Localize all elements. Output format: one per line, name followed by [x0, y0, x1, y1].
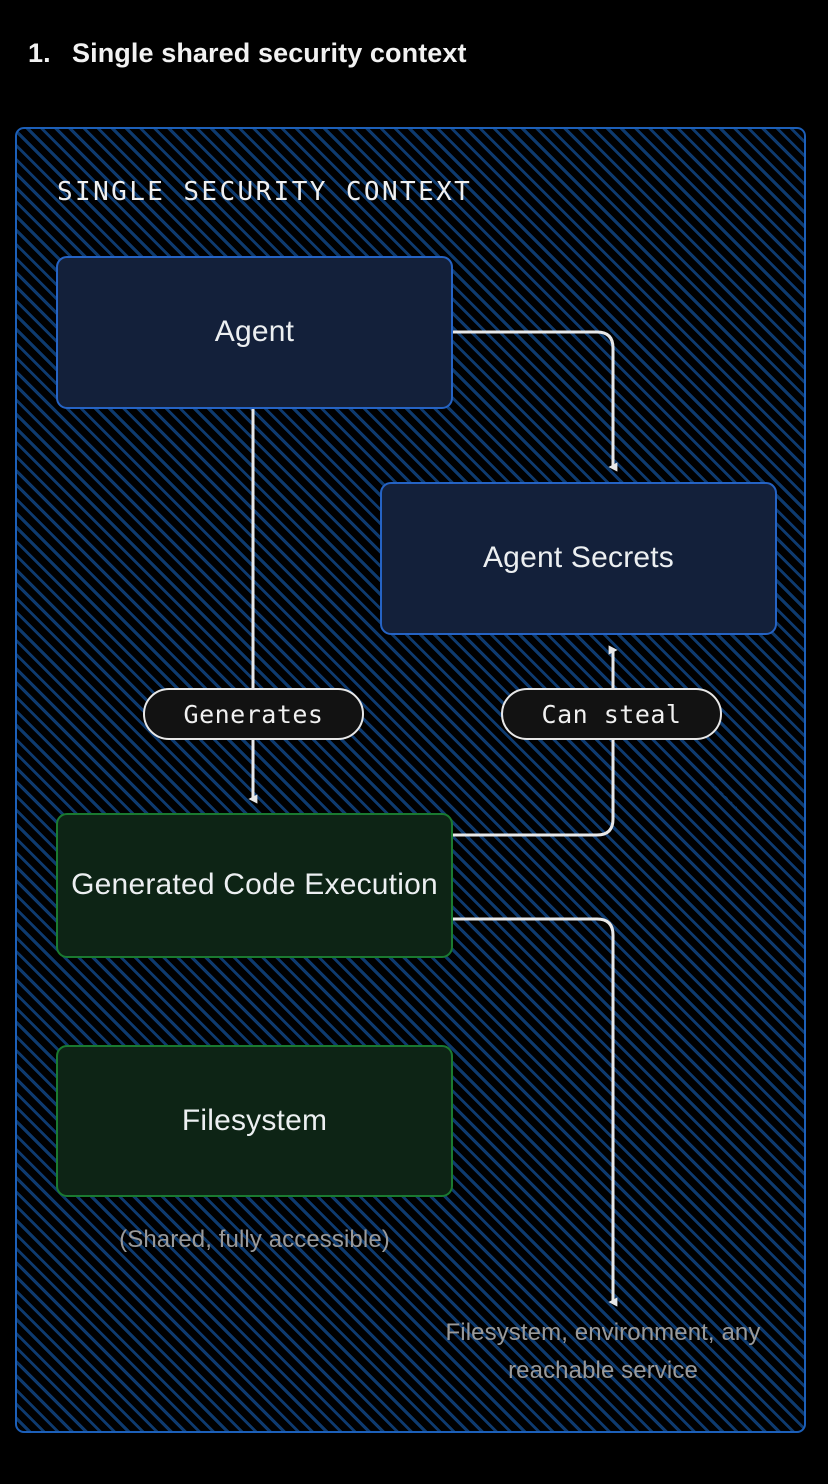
caption-filesystem-note: (Shared, fully accessible) [56, 1221, 453, 1259]
page-title-number: 1. [28, 38, 72, 69]
edge-agent-to-secrets [453, 332, 613, 467]
edge-label-generates-text: Generates [184, 700, 324, 729]
single-security-context-container: SINGLE SECURITY CONTEXT Agent Agent Secr… [15, 127, 806, 1433]
edge-codeexec-to-reachable [453, 919, 613, 1302]
node-generated-code-execution[interactable]: Generated Code Execution [56, 813, 453, 958]
node-filesystem[interactable]: Filesystem [56, 1045, 453, 1197]
node-filesystem-label: Filesystem [182, 1102, 327, 1140]
node-agent-secrets-label: Agent Secrets [483, 539, 674, 577]
node-generated-code-execution-label: Generated Code Execution [71, 866, 438, 904]
edge-label-can-steal-text: Can steal [542, 700, 682, 729]
caption-reachable-note: Filesystem, environment, any reachable s… [417, 1314, 789, 1391]
edge-codeexec-to-secrets [453, 650, 613, 835]
node-agent-label: Agent [215, 313, 294, 351]
node-agent-secrets[interactable]: Agent Secrets [380, 482, 777, 635]
edge-label-can-steal: Can steal [501, 688, 722, 740]
node-agent[interactable]: Agent [56, 256, 453, 409]
page-title-text: Single shared security context [72, 38, 467, 69]
context-label: SINGLE SECURITY CONTEXT [57, 177, 472, 207]
page-title: 1. Single shared security context [28, 38, 788, 78]
edge-label-generates: Generates [143, 688, 364, 740]
